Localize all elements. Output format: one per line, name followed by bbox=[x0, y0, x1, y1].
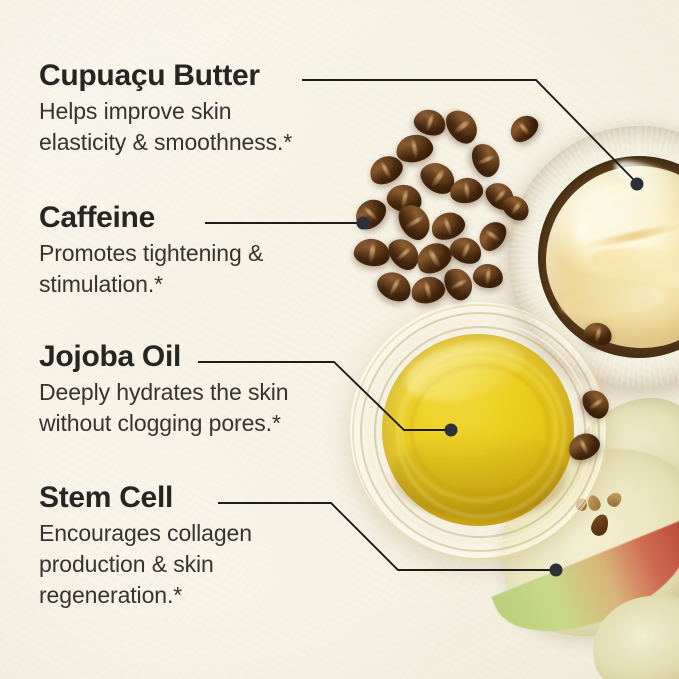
callout-caffeine: Caffeine Promotes tightening & stimulati… bbox=[39, 202, 369, 300]
ingredient-description: Promotes tightening & stimulation.* bbox=[39, 238, 369, 300]
ingredient-infographic: Cupuaçu Butter Helps improve skin elasti… bbox=[0, 0, 679, 679]
ingredient-description: Deeply hydrates the skin without cloggin… bbox=[39, 377, 369, 439]
leader-endpoint-dot bbox=[550, 564, 563, 577]
ingredient-description: Helps improve skin elasticity & smoothne… bbox=[39, 96, 369, 158]
callout-stem-cell: Stem Cell Encourages collagen production… bbox=[39, 482, 369, 611]
ingredient-title: Jojoba Oil bbox=[39, 341, 369, 373]
ingredient-title: Stem Cell bbox=[39, 482, 369, 514]
ingredient-title: Cupuaçu Butter bbox=[39, 60, 369, 92]
ingredient-title: Caffeine bbox=[39, 202, 369, 234]
leader-endpoint-dot bbox=[445, 424, 458, 437]
callout-cupuacu-butter: Cupuaçu Butter Helps improve skin elasti… bbox=[39, 60, 369, 158]
callout-jojoba-oil: Jojoba Oil Deeply hydrates the skin with… bbox=[39, 341, 369, 439]
ingredient-description: Encourages collagen production & skin re… bbox=[39, 518, 369, 611]
leader-endpoint-dot bbox=[631, 178, 644, 191]
